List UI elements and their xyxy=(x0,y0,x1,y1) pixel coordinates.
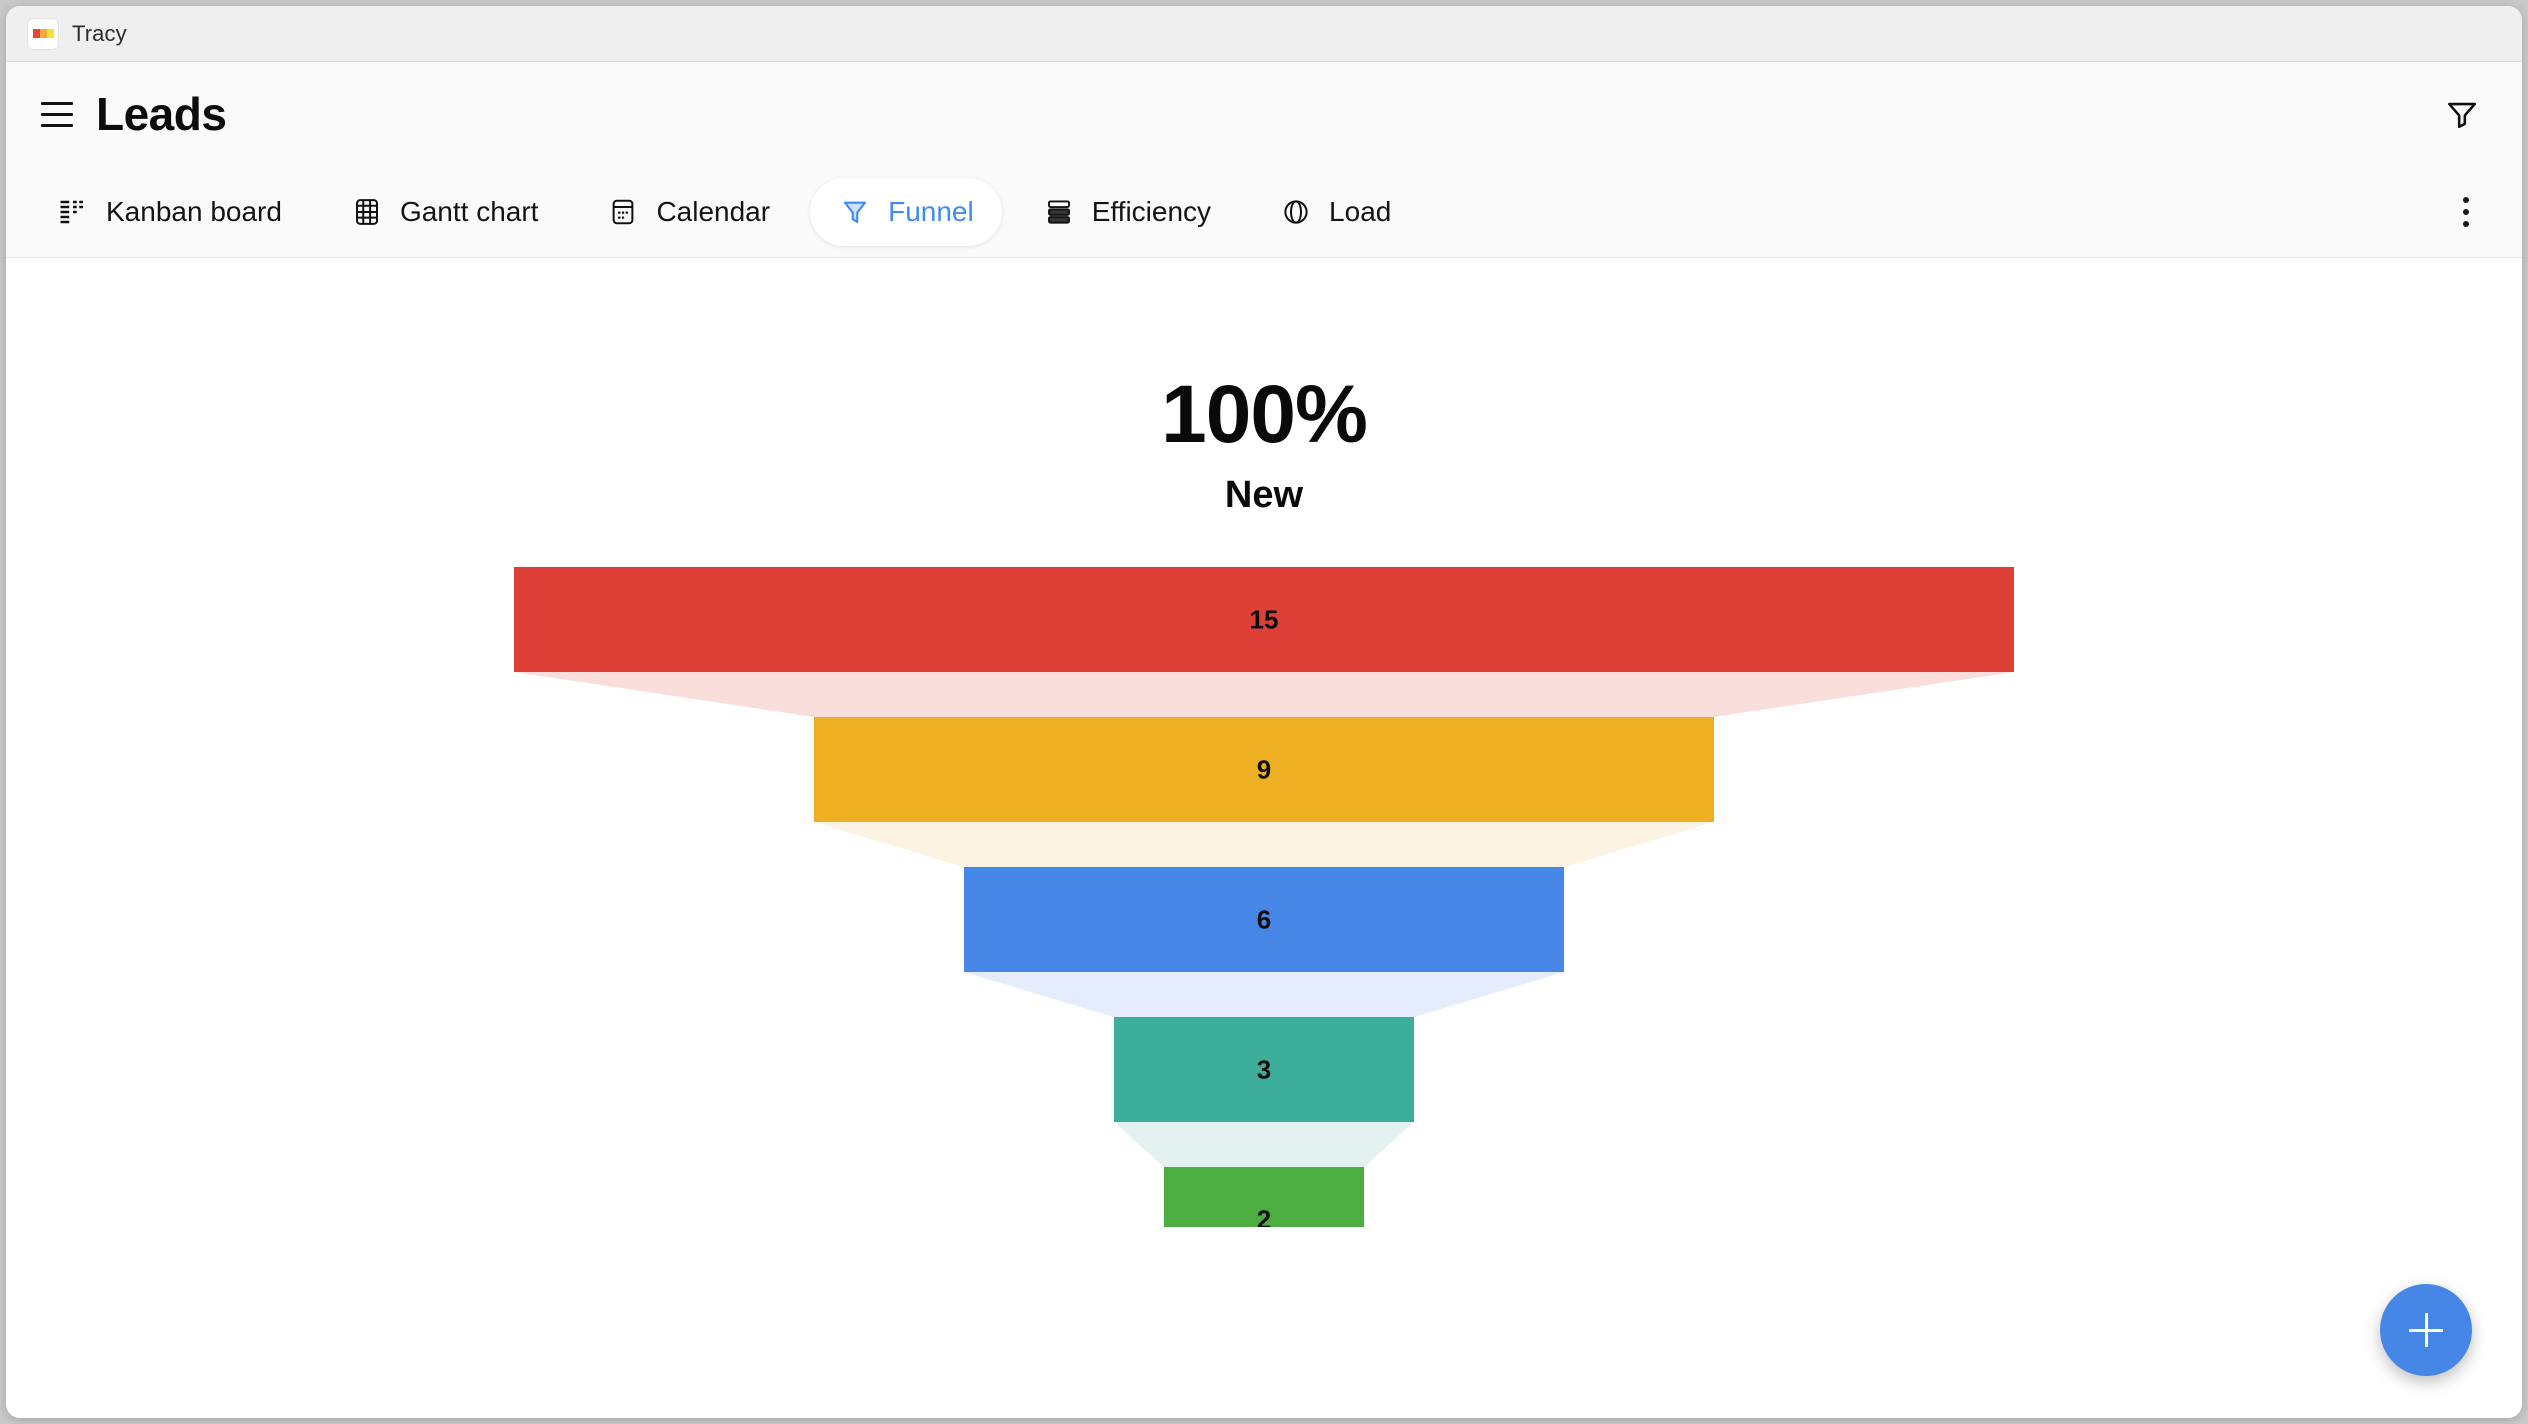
funnel-bar-value: 9 xyxy=(1257,755,1271,785)
hamburger-menu-icon[interactable] xyxy=(36,93,78,135)
filter-funnel-icon[interactable] xyxy=(2436,88,2488,140)
tracy-logo-icon xyxy=(28,19,58,49)
tab-label: Calendar xyxy=(656,196,770,228)
gantt-chart-icon xyxy=(350,195,384,229)
page-header: Leads xyxy=(6,62,2522,166)
funnel-connector xyxy=(514,672,2014,717)
efficiency-icon xyxy=(1042,195,1076,229)
funnel-connector xyxy=(814,822,1714,867)
funnel-view-content: 100% New 159632 xyxy=(6,258,2522,1418)
funnel-bar-value: 6 xyxy=(1257,905,1271,935)
load-icon xyxy=(1279,195,1313,229)
funnel-percent-value: 100% xyxy=(6,374,2522,456)
tab-label: Kanban board xyxy=(106,196,282,228)
add-button[interactable] xyxy=(2380,1284,2472,1376)
page-title: Leads xyxy=(96,87,226,141)
tab-calendar[interactable]: Calendar xyxy=(578,178,798,246)
funnel-bar-value: 3 xyxy=(1257,1055,1271,1085)
app-window: Tracy Leads xyxy=(6,6,2522,1418)
tab-gantt-chart[interactable]: Gantt chart xyxy=(322,178,567,246)
tab-label: Efficiency xyxy=(1092,196,1211,228)
tab-funnel[interactable]: Funnel xyxy=(810,178,1002,246)
funnel-connector xyxy=(964,972,1564,1017)
funnel-connector xyxy=(1114,1122,1414,1167)
funnel-summary: 100% New xyxy=(6,258,2522,517)
funnel-chart-svg: 159632 xyxy=(464,567,2064,1227)
tab-kanban-board[interactable]: Kanban board xyxy=(28,178,310,246)
calendar-icon xyxy=(606,195,640,229)
app-name-label: Tracy xyxy=(72,21,127,47)
tab-load[interactable]: Load xyxy=(1251,178,1419,246)
tab-label: Gantt chart xyxy=(400,196,539,228)
tab-label: Load xyxy=(1329,196,1391,228)
funnel-bar-value: 2 xyxy=(1257,1205,1271,1228)
window-titlebar: Tracy xyxy=(6,6,2522,62)
funnel-chart: 159632 xyxy=(6,567,2522,1227)
plus-icon-vertical xyxy=(2425,1313,2428,1347)
funnel-stage-label: New xyxy=(6,474,2522,517)
kebab-menu-icon[interactable] xyxy=(2440,186,2492,238)
tab-label: Funnel xyxy=(888,196,974,228)
tab-efficiency[interactable]: Efficiency xyxy=(1014,178,1239,246)
view-tabbar: Kanban board Gantt chart xyxy=(6,166,2522,258)
funnel-bar-value: 15 xyxy=(1250,605,1279,635)
funnel-icon xyxy=(838,195,872,229)
kanban-board-icon xyxy=(56,195,90,229)
